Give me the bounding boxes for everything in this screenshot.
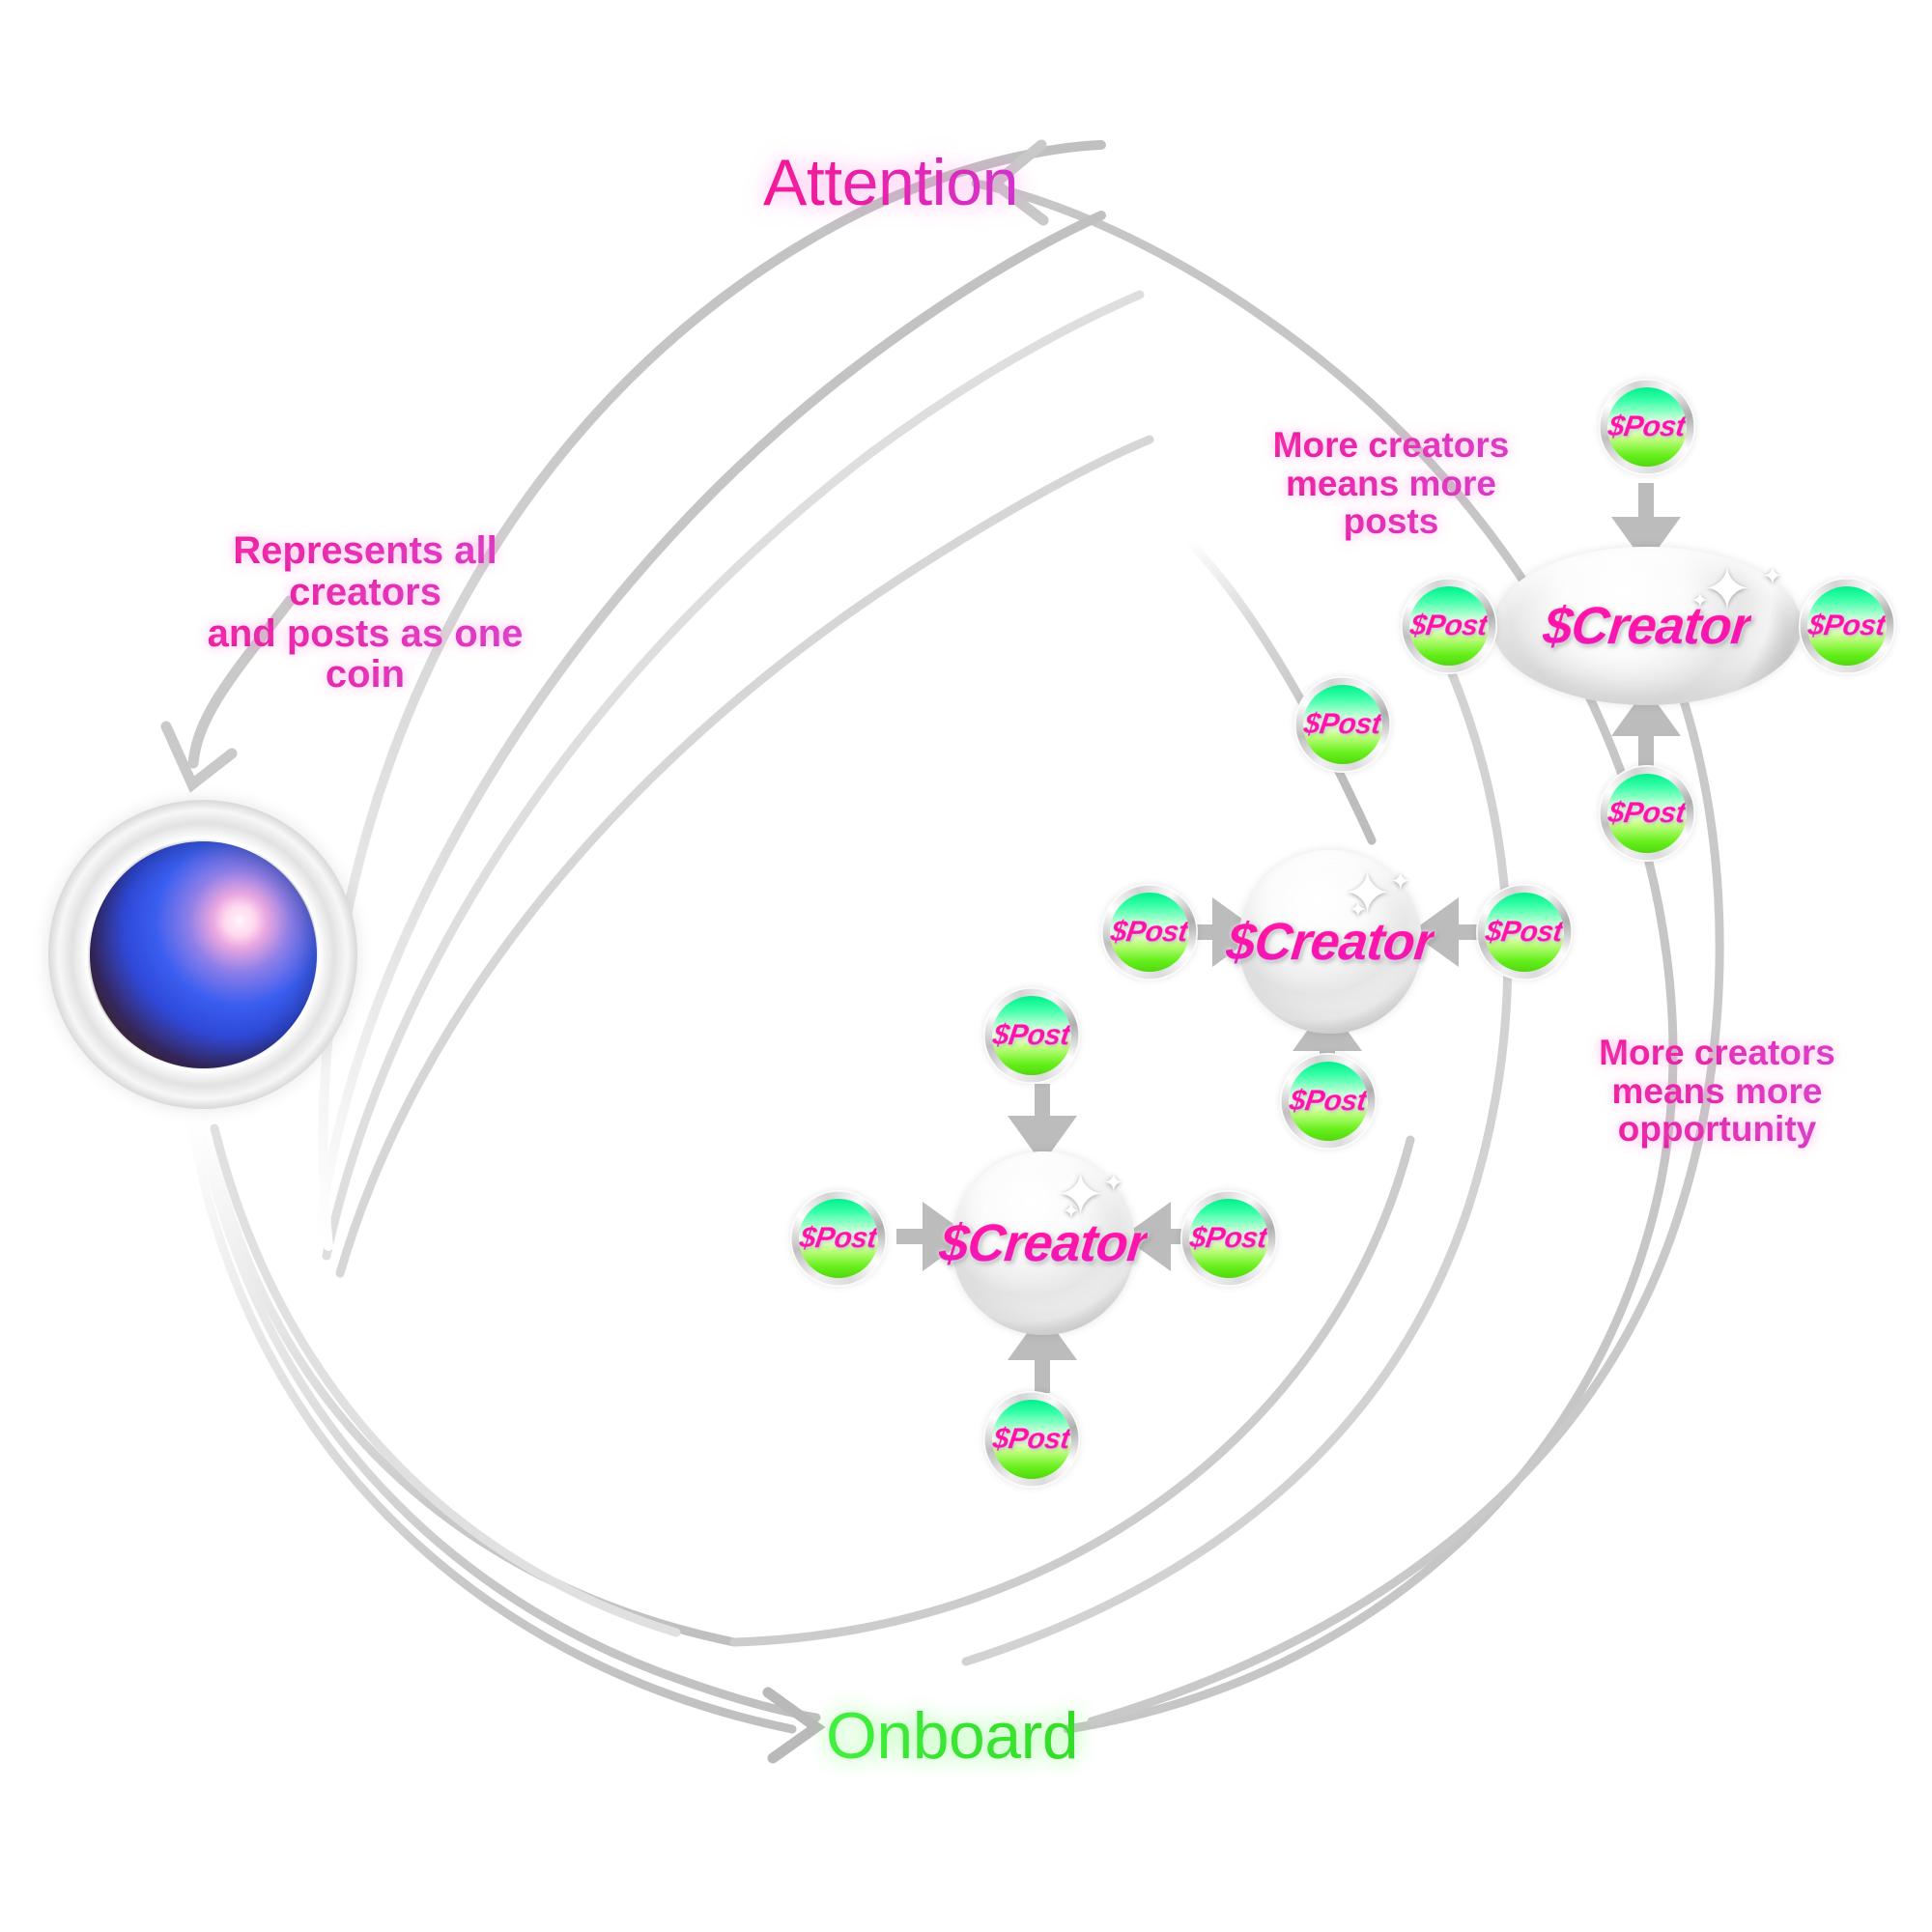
annotation-represents: Represents all creators and posts as one… (162, 530, 568, 696)
creator-token-label: $Creator (937, 1213, 1151, 1273)
arc-desc-1 (198, 1116, 816, 1718)
annotation-more-opportunity: More creators means more opportunity (1594, 1034, 1840, 1149)
arc-inner-ascend-2 (327, 295, 1140, 1256)
post-token-tr-right[interactable]: $Post (1799, 578, 1895, 674)
post-token-mid-right[interactable]: $Post (1476, 884, 1573, 980)
diagram-canvas: ✦ ✦ ✦ $Creator $Post $Post $Post $Post ✦… (0, 0, 1932, 1932)
post-token-label: $Post (991, 1019, 1072, 1052)
post-token-tr-top[interactable]: $Post (1599, 379, 1695, 475)
onboard-label: Onboard (826, 1698, 1078, 1774)
post-token-label: $Post (1484, 916, 1565, 949)
post-token-label: $Post (1606, 411, 1688, 443)
post-token-tr-bottom[interactable]: $Post (1599, 765, 1695, 862)
creator-token-bottom-left[interactable]: ✦ ✦ ✦ $Creator (952, 1151, 1135, 1335)
post-token-mid-top[interactable]: $Post (1294, 676, 1391, 773)
post-token-bl-bottom[interactable]: $Post (983, 1391, 1080, 1488)
post-token-label: $Post (1806, 610, 1888, 642)
post-token-bl-top[interactable]: $Post (983, 987, 1080, 1084)
post-token-label: $Post (1606, 797, 1688, 830)
post-token-mid-bottom[interactable]: $Post (1280, 1053, 1377, 1150)
post-token-label: $Post (1408, 610, 1490, 642)
attention-label: Attention (763, 145, 1018, 220)
creator-token-label: $Creator (1541, 596, 1754, 656)
post-token-label: $Post (1288, 1085, 1369, 1118)
post-token-label: $Post (1109, 916, 1190, 949)
creator-token-label: $Creator (1224, 912, 1437, 972)
post-token-label: $Post (991, 1423, 1072, 1456)
post-token-tr-left[interactable]: $Post (1401, 578, 1497, 674)
creator-token-top-right[interactable]: ✦ ✦ ✦ $Creator (1492, 547, 1802, 705)
annotation-more-posts: More creators means more posts (1246, 426, 1536, 541)
creator-token-middle[interactable]: ✦ ✦ ✦ $Creator (1238, 850, 1422, 1034)
post-token-label: $Post (798, 1222, 879, 1255)
post-token-bl-right[interactable]: $Post (1180, 1190, 1277, 1287)
index-coin-sphere (90, 841, 317, 1068)
post-token-label: $Post (1188, 1222, 1269, 1255)
index-coin[interactable] (48, 800, 357, 1109)
post-token-label: $Post (1302, 708, 1383, 741)
post-token-mid-left[interactable]: $Post (1101, 884, 1198, 980)
post-token-bl-left[interactable]: $Post (790, 1190, 887, 1287)
